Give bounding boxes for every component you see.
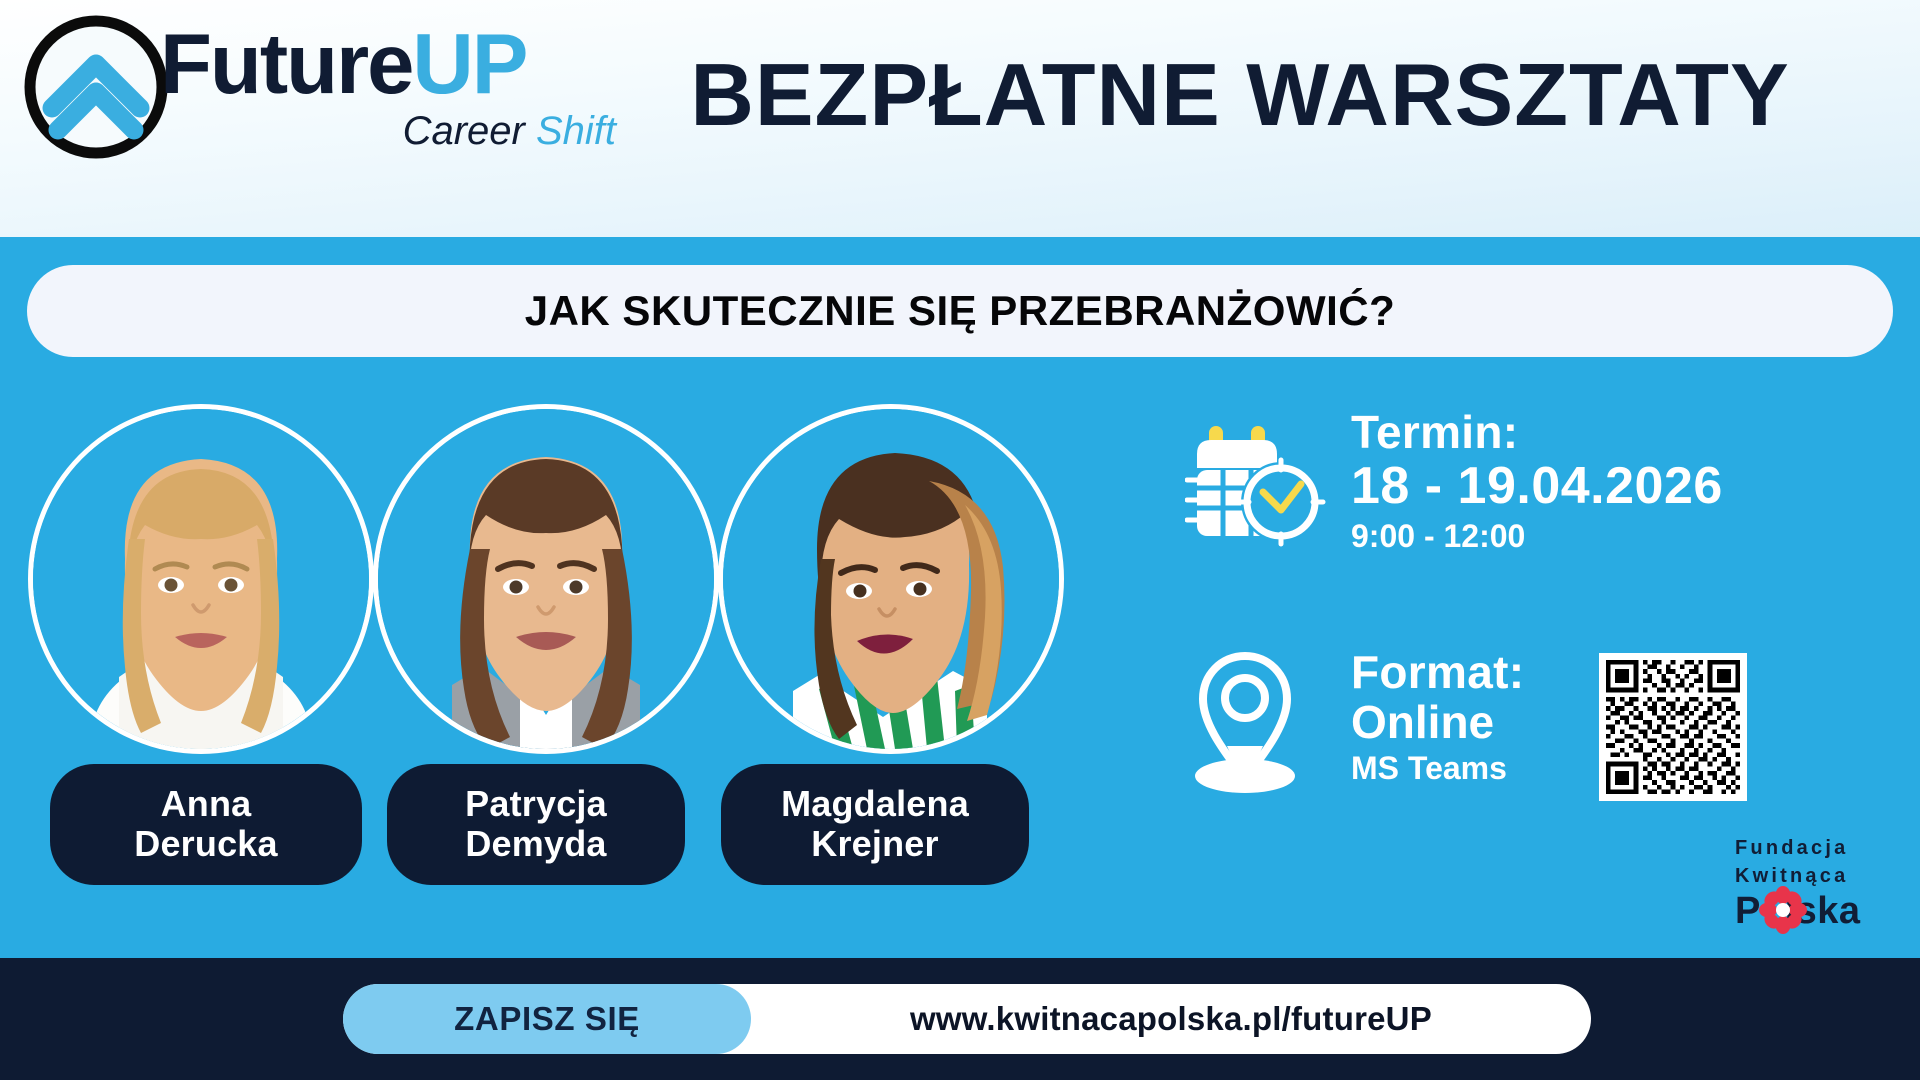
speaker-card: Anna Derucka [28, 404, 368, 754]
speaker-name-pill: Magdalena Krejner [721, 764, 1029, 885]
brand-tagline: Career Shift [160, 111, 620, 151]
location-pin-icon [1185, 648, 1333, 798]
speakers-row: Anna Derucka [28, 404, 1088, 904]
speaker-last-name: Derucka [60, 824, 352, 864]
speaker-first-name: Patrycja [397, 784, 675, 824]
speaker-first-name: Magdalena [731, 784, 1019, 824]
portrait-anna-derucka [33, 409, 369, 749]
page-title: BEZPŁATNE WARSZTATY [690, 44, 1790, 146]
brand-name-future: Future [160, 17, 412, 112]
poster-canvas: FutureUP Career Shift BEZPŁATNE WARSZTAT… [0, 0, 1920, 1080]
subtitle-banner: JAK SKUTECZNIE SIĘ PRZEBRANŻOWIĆ? [27, 265, 1893, 357]
signup-button[interactable]: ZAPISZ SIĘ [343, 984, 751, 1054]
foundation-logo: Fundacja Kwitnąca Polska [1735, 835, 1885, 945]
brand-name: FutureUP [160, 22, 620, 107]
futureup-logo-mark [16, 12, 176, 162]
subtitle-text: JAK SKUTECZNIE SIĘ PRZEBRANŻOWIĆ? [525, 287, 1396, 335]
speaker-card: Magdalena Krejner [718, 404, 1058, 754]
brand-name-up: UP [412, 17, 526, 112]
speaker-name-pill: Anna Derucka [50, 764, 362, 885]
portrait-magdalena-krejner [723, 409, 1059, 749]
speaker-last-name: Krejner [731, 824, 1019, 864]
speaker-first-name: Anna [60, 784, 352, 824]
avatar [28, 404, 374, 754]
speaker-last-name: Demyda [397, 824, 675, 864]
speaker-name-pill: Patrycja Demyda [387, 764, 685, 885]
portrait-patrycja-demyda [378, 409, 714, 749]
info-date-text: Termin: 18 - 19.04.2026 9:00 - 12:00 [1333, 408, 1723, 555]
info-format-platform: MS Teams [1351, 749, 1524, 787]
qr-code[interactable] [1599, 653, 1747, 801]
foundation-word-prefix: P [1735, 890, 1761, 932]
header-bar: FutureUP Career Shift BEZPŁATNE WARSZTAT… [0, 0, 1920, 237]
foundation-wordmark: Polska [1735, 892, 1885, 930]
info-date-heading: Termin: [1351, 408, 1723, 457]
info-format-value: Online [1351, 697, 1524, 748]
avatar [373, 404, 719, 754]
brand-tagline-career: Career [403, 109, 536, 153]
calendar-clock-icon-wrap [1185, 408, 1333, 558]
info-format-block: Format: Online MS Teams [1185, 648, 1524, 798]
info-format-heading: Format: [1351, 648, 1524, 697]
double-chevron-up-icon [16, 12, 176, 162]
info-date-hours: 9:00 - 12:00 [1351, 517, 1723, 555]
calendar-clock-icon [1185, 408, 1333, 558]
info-date-value: 18 - 19.04.2026 [1351, 457, 1723, 515]
brand-tagline-shift: Shift [536, 109, 616, 153]
speaker-card: Patrycja Demyda [373, 404, 713, 754]
signup-url[interactable]: www.kwitnacapolska.pl/futureUP [751, 984, 1591, 1054]
info-format-text: Format: Online MS Teams [1333, 648, 1524, 788]
foundation-line-1: Fundacja [1735, 835, 1885, 863]
foundation-line-2: Kwitnąca [1735, 863, 1885, 891]
flower-icon [1759, 886, 1807, 934]
info-date-block: Termin: 18 - 19.04.2026 9:00 - 12:00 [1185, 408, 1723, 558]
location-pin-icon-wrap [1185, 648, 1333, 798]
qr-code-icon [1606, 660, 1740, 794]
avatar [718, 404, 1064, 754]
futureup-wordmark: FutureUP Career Shift [160, 22, 620, 172]
